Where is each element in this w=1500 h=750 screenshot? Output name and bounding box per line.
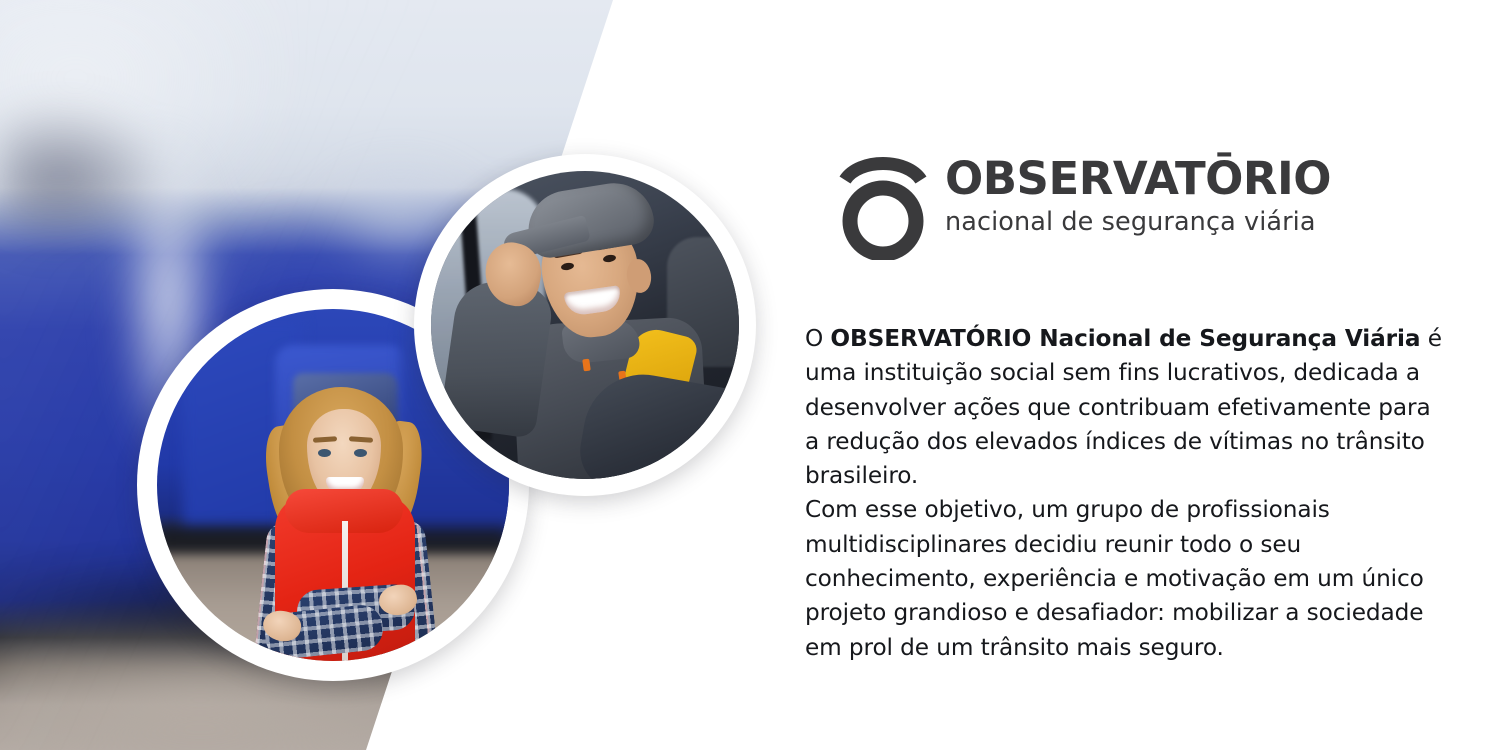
content-column: OBSERVATŌRIO nacional de segurança viári… <box>805 0 1445 750</box>
photo-bubble-man-inner <box>431 171 739 479</box>
about-paragraph-two: Com esse objetivo, um grupo de profissio… <box>805 493 1445 664</box>
man-driver-photo <box>431 171 739 479</box>
observatorio-banner: OBSERVATŌRIO nacional de segurança viári… <box>0 0 1500 750</box>
about-lead-bold: OBSERVATÓRIO Nacional de Segurança Viári… <box>830 325 1420 352</box>
about-lead-prefix: O <box>805 325 830 352</box>
logo-wordmark: OBSERVATŌRIO <box>945 156 1331 202</box>
about-text-block: O OBSERVATÓRIO Nacional de Segurança Viá… <box>805 322 1445 665</box>
observatorio-ring-mark-icon <box>837 148 929 260</box>
woman-eye-left <box>318 449 331 457</box>
logo: OBSERVATŌRIO nacional de segurança viári… <box>837 148 1331 260</box>
logo-tagline: nacional de segurança viária <box>945 207 1331 239</box>
woman-eye-right <box>354 449 367 457</box>
photo-bubble-man-driver <box>414 154 756 496</box>
logo-text-block: OBSERVATŌRIO nacional de segurança viári… <box>945 148 1331 239</box>
about-paragraph-one: O OBSERVATÓRIO Nacional de Segurança Viá… <box>805 322 1445 493</box>
man-jacket-detail-upper <box>582 359 591 372</box>
